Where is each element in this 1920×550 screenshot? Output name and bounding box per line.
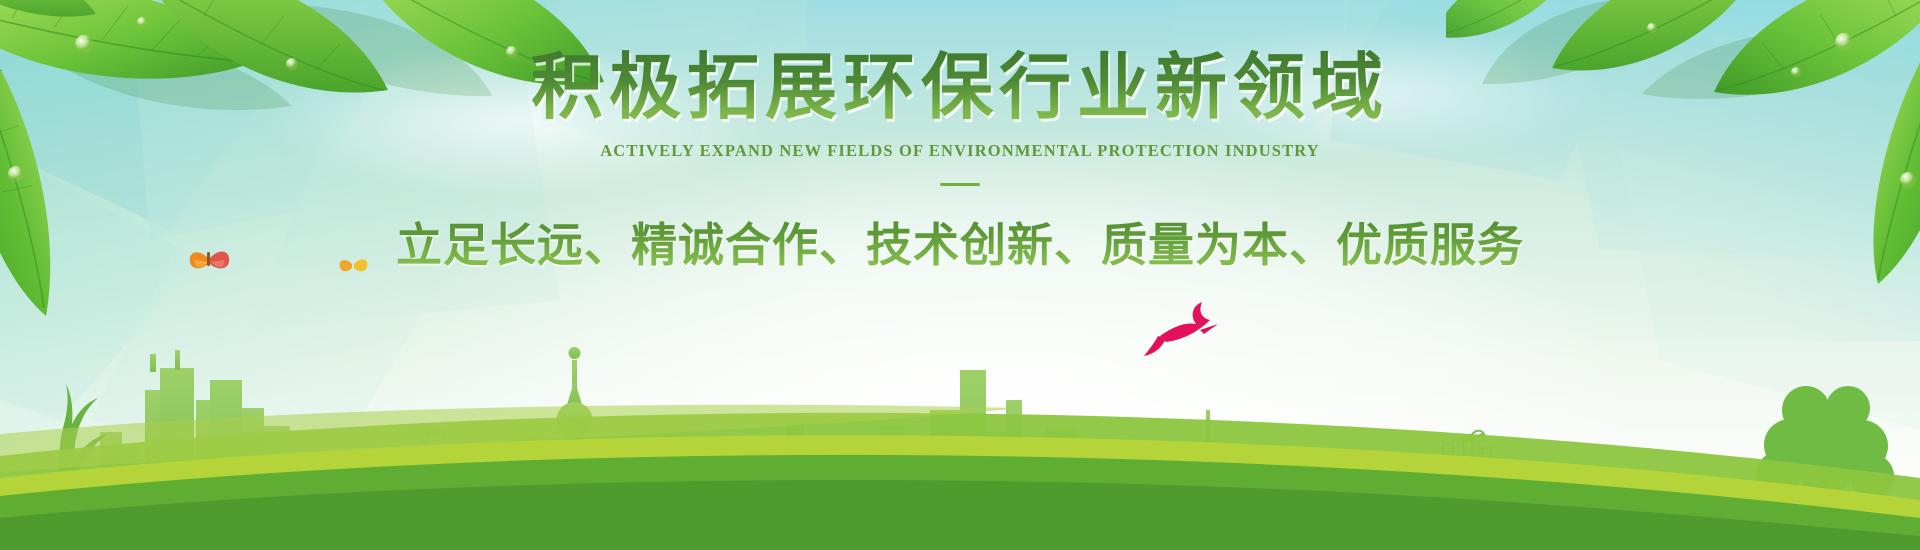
banner-text-block: 积极拓展环保行业新领域 ACTIVELY EXPAND NEW FIELDS O… — [0, 50, 1920, 275]
subtitle-english: ACTIVELY EXPAND NEW FIELDS OF ENVIRONMEN… — [0, 141, 1920, 161]
eco-banner: 积极拓展环保行业新领域 ACTIVELY EXPAND NEW FIELDS O… — [0, 0, 1920, 550]
green-wave-ribbons — [0, 400, 1920, 550]
hummingbird — [1144, 302, 1218, 356]
page-title: 积极拓展环保行业新领域 — [531, 50, 1389, 128]
slogan-text: 立足长远、精诚合作、技术创新、质量为本、优质服务 — [396, 209, 1524, 275]
divider-rule — [940, 183, 980, 186]
